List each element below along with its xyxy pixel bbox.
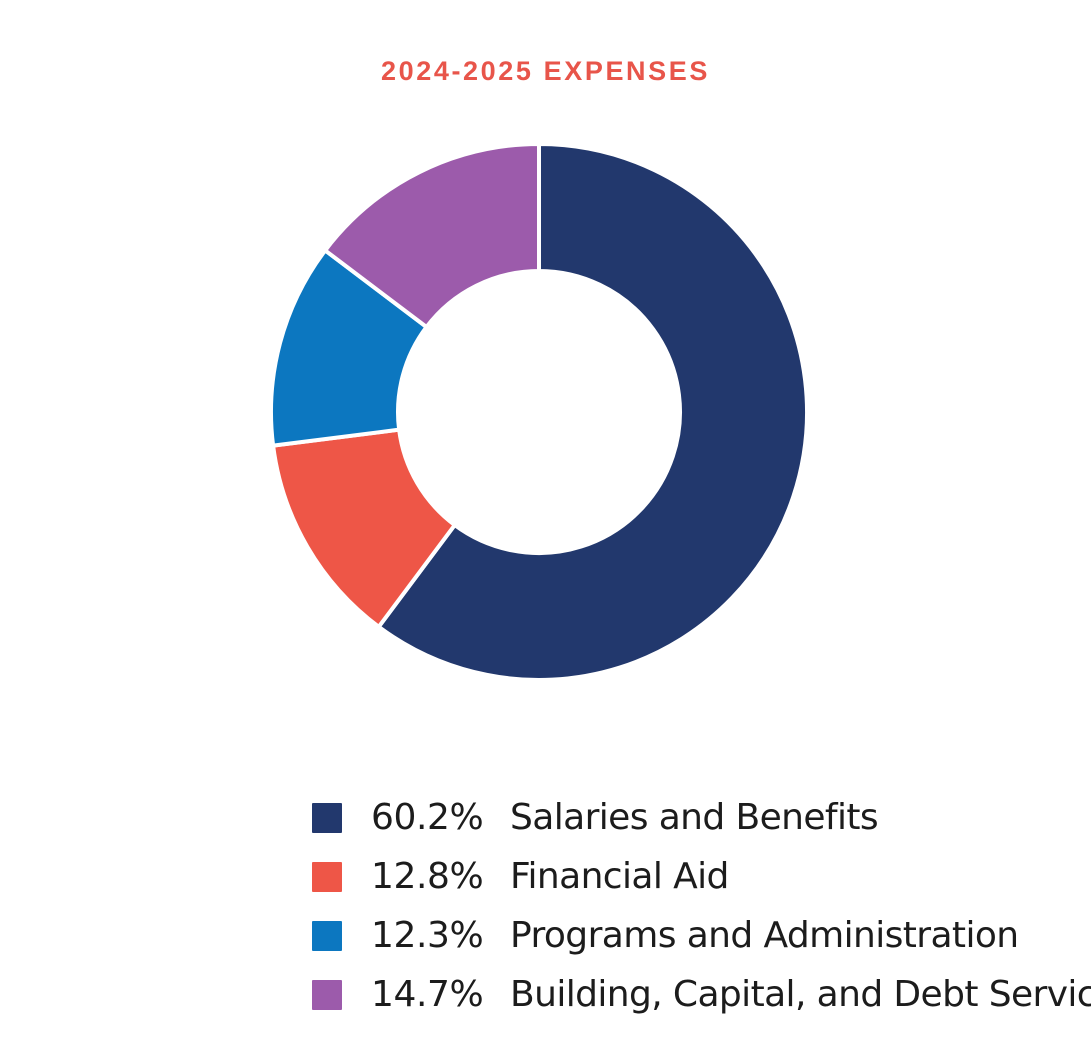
legend-label: Programs and Administration xyxy=(510,916,1019,956)
legend-label: Building, Capital, and Debt Service xyxy=(510,975,1091,1015)
legend-row[interactable]: 12.3%Programs and Administration xyxy=(312,906,1072,965)
expenses-chart-page: 2024-2025 EXPENSES Salaries and Benefits… xyxy=(0,0,1091,1058)
chart-legend: 60.2%Salaries and Benefits12.8%Financial… xyxy=(312,788,1072,1024)
legend-percent: 60.2% xyxy=(371,798,510,838)
legend-percent: 14.7% xyxy=(371,975,510,1015)
page-title: 2024-2025 EXPENSES xyxy=(0,54,1091,88)
legend-row[interactable]: 60.2%Salaries and Benefits xyxy=(312,788,1072,847)
legend-label: Financial Aid xyxy=(510,857,729,897)
legend-row[interactable]: 12.8%Financial Aid xyxy=(312,847,1072,906)
legend-label: Salaries and Benefits xyxy=(510,798,878,838)
donut-chart-svg: Salaries and Benefits 60.2%Financial Aid… xyxy=(251,124,827,700)
legend-color-swatch xyxy=(312,803,342,833)
legend-color-swatch xyxy=(312,980,342,1010)
legend-row[interactable]: 14.7%Building, Capital, and Debt Service xyxy=(312,965,1072,1024)
legend-color-swatch xyxy=(312,862,342,892)
legend-color-swatch xyxy=(312,921,342,951)
legend-percent: 12.8% xyxy=(371,857,510,897)
legend-percent: 12.3% xyxy=(371,916,510,956)
donut-slice-group: Salaries and Benefits 60.2%Financial Aid… xyxy=(271,144,807,680)
donut-chart: Salaries and Benefits 60.2%Financial Aid… xyxy=(251,124,827,700)
